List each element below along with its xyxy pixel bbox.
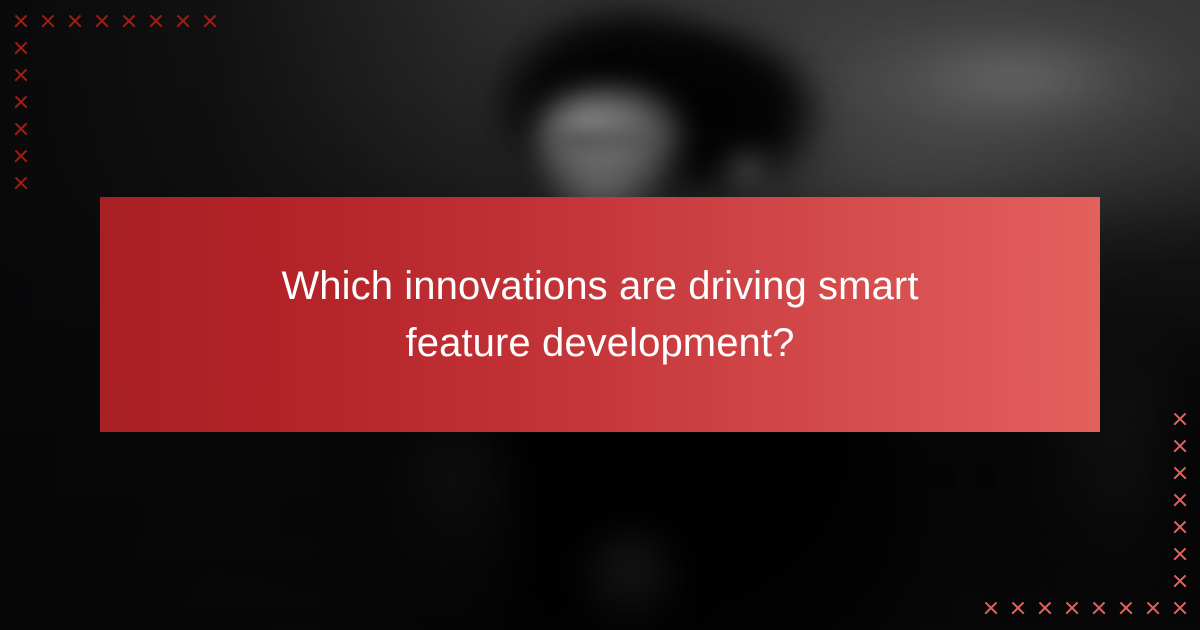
x-mark-icon	[7, 89, 34, 116]
x-mark-icon	[1166, 568, 1193, 595]
x-mark-icon	[1166, 541, 1193, 568]
x-pattern-top-left-row	[7, 8, 223, 35]
x-mark-icon	[88, 8, 115, 35]
x-mark-icon	[7, 35, 34, 62]
x-mark-icon	[1166, 406, 1193, 433]
x-mark-icon	[1166, 514, 1193, 541]
x-mark-icon	[7, 143, 34, 170]
x-pattern-left-column	[7, 35, 34, 197]
x-mark-icon	[977, 595, 1004, 622]
x-mark-icon	[7, 170, 34, 197]
x-mark-icon	[1004, 595, 1031, 622]
x-mark-icon	[1139, 595, 1166, 622]
x-mark-icon	[1031, 595, 1058, 622]
x-mark-icon	[7, 116, 34, 143]
x-mark-icon	[196, 8, 223, 35]
social-card-canvas: Which innovations are driving smart feat…	[0, 0, 1200, 630]
x-mark-icon	[142, 8, 169, 35]
x-mark-icon	[7, 8, 34, 35]
x-mark-icon	[1058, 595, 1085, 622]
x-mark-icon	[1085, 595, 1112, 622]
x-pattern-right-column	[1166, 406, 1193, 595]
x-mark-icon	[115, 8, 142, 35]
x-mark-icon	[1166, 595, 1193, 622]
x-mark-icon	[169, 8, 196, 35]
x-mark-icon	[1112, 595, 1139, 622]
x-mark-icon	[34, 8, 61, 35]
x-mark-icon	[61, 8, 88, 35]
headline-title: Which innovations are driving smart feat…	[220, 258, 980, 372]
x-mark-icon	[1166, 487, 1193, 514]
headline-banner: Which innovations are driving smart feat…	[100, 197, 1100, 432]
x-pattern-bottom-right-row	[977, 595, 1193, 622]
x-mark-icon	[1166, 433, 1193, 460]
x-mark-icon	[1166, 460, 1193, 487]
x-mark-icon	[7, 62, 34, 89]
